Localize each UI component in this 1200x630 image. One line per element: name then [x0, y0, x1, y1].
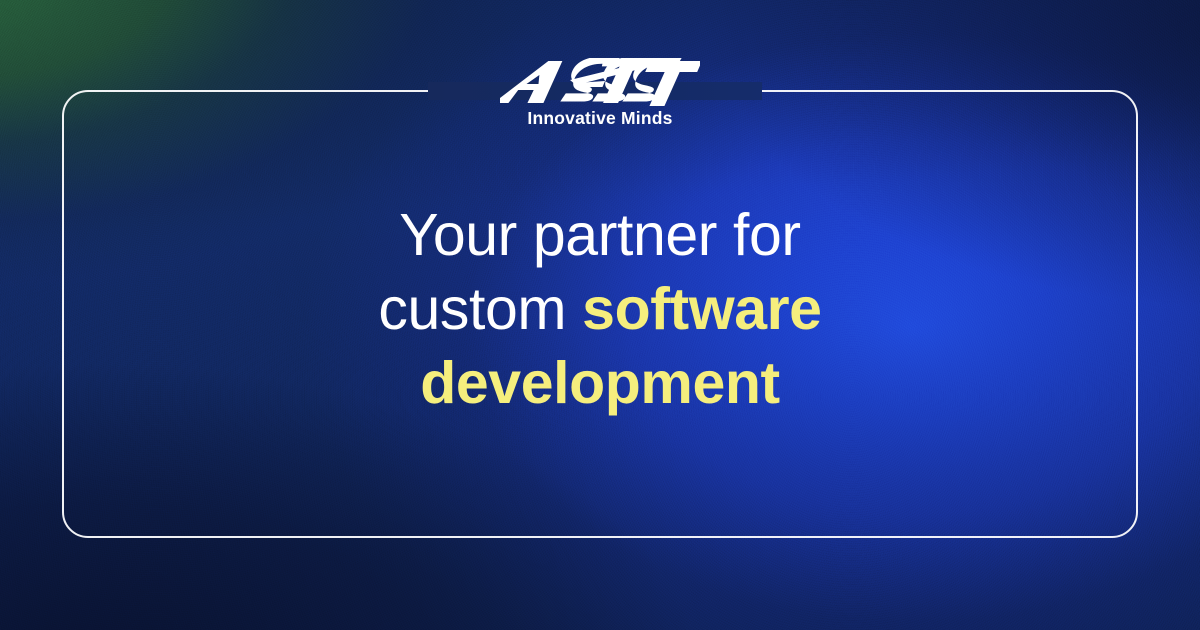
headline-line-2-accent: software — [582, 276, 821, 342]
brand-tagline: Innovative Minds — [527, 110, 672, 128]
assist-wordmark-icon — [500, 58, 700, 106]
headline: Your partner for custom software develop… — [0, 198, 1200, 420]
promo-banner: Innovative Minds Your partner for custom… — [0, 0, 1200, 630]
headline-line-2: custom software — [0, 272, 1200, 346]
brand-logo: Innovative Minds — [0, 58, 1200, 128]
headline-line-1: Your partner for — [0, 198, 1200, 272]
headline-line-2-plain: custom — [378, 276, 582, 342]
headline-line-3: development — [0, 346, 1200, 420]
